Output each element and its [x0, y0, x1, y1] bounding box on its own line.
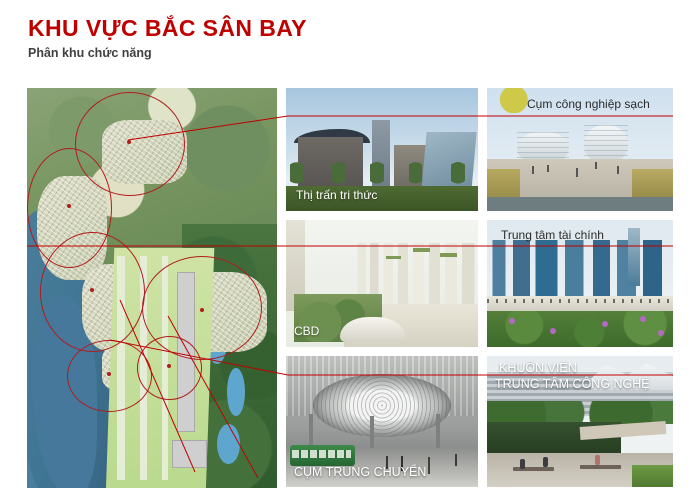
map-dot-cong-nghiep — [67, 204, 71, 208]
photo-cong-nghiep-sach[interactable]: Cụm công nghiệp sạch — [487, 88, 673, 211]
photo-person — [595, 455, 600, 465]
photo-building-left — [298, 137, 363, 194]
photo-cong-nghe[interactable]: KHUÔN VIÊN TRUNG TÂM CÔNG NGHỆ — [487, 356, 673, 487]
photo-bridge-railing — [487, 299, 673, 303]
photo-label-trung-chuyen: CỤM TRUNG CHUYỂN — [294, 465, 426, 479]
photo-facade-stripes — [584, 125, 629, 164]
photo-person — [547, 165, 549, 172]
map-dot-cong-nghe — [167, 364, 171, 368]
photo-person — [455, 454, 457, 466]
photo-person — [617, 166, 619, 174]
photo-tai-chinh[interactable]: Trung tâm tài chính — [487, 220, 673, 347]
photo-trung-chuyen[interactable]: CỤM TRUNG CHUYỂN — [286, 356, 478, 487]
photo-label-cong-nghiep-sach: Cụm công nghiệp sạch — [527, 98, 650, 112]
slide-root: KHU VỰC BẮC SÂN BAY Phân khu chức năng — [0, 0, 700, 493]
photo-tri-thuc[interactable]: Thị trấn tri thức — [286, 88, 478, 211]
map-zone-cbd[interactable] — [40, 232, 145, 352]
masterplan-map[interactable] — [27, 88, 277, 488]
photo-person — [532, 166, 534, 174]
photo-label-cbd: CBD — [294, 325, 319, 339]
photo-tree — [409, 162, 422, 189]
photo-roof-garden — [386, 256, 401, 260]
photo-label-cong-nghe-line2: TRUNG TÂM CÔNG NGHỆ — [495, 377, 650, 391]
photo-roof-garden — [413, 248, 430, 252]
photo-tree — [332, 162, 345, 189]
photo-oculus-dome — [313, 374, 451, 437]
photo-curved-building-b — [584, 125, 629, 164]
photo-label-tri-thuc: Thị trấn tri thức — [296, 189, 377, 203]
photo-glass-building — [422, 132, 477, 191]
photo-tree — [370, 162, 383, 189]
photo-cbd[interactable]: CBD — [286, 220, 478, 347]
photo-person — [428, 457, 430, 474]
photo-person — [595, 162, 597, 169]
photo-tree — [451, 162, 464, 189]
photo-lotus-flower — [602, 321, 608, 327]
photo-roof-garden — [440, 253, 457, 257]
photo-water-strip — [487, 197, 673, 211]
photo-bench — [513, 467, 554, 471]
map-creek-3 — [217, 424, 240, 464]
page-title: KHU VỰC BẮC SÂN BAY — [28, 16, 307, 41]
photo-lawn — [632, 465, 673, 487]
photo-person — [543, 457, 548, 467]
map-dot-tai-chinh — [200, 308, 204, 312]
photo-tram-windows — [292, 450, 352, 458]
map-apron — [172, 440, 207, 468]
photo-person — [520, 459, 525, 469]
map-dot-trung-chuyen — [107, 372, 111, 376]
photo-label-cong-nghe-line1: KHUÔN VIÊN — [499, 361, 577, 375]
photo-oculus-mesh — [313, 374, 451, 437]
photo-lotus-flower — [658, 330, 664, 336]
photo-bench — [580, 465, 621, 469]
header: KHU VỰC BẮC SÂN BAY Phân khu chức năng — [28, 16, 307, 61]
photo-landmark-tower — [628, 228, 639, 286]
photo-lotus-flower — [640, 316, 646, 322]
photo-person — [576, 168, 578, 177]
photo-label-tai-chinh: Trung tâm tài chính — [501, 229, 604, 243]
map-creek-2 — [227, 368, 245, 416]
page-subtitle: Phân khu chức năng — [28, 47, 307, 61]
map-dot-cbd — [90, 288, 94, 292]
photo-tree — [290, 162, 303, 189]
map-dot-tri-thuc — [127, 140, 131, 144]
map-zone-cong-nghe[interactable] — [137, 336, 202, 400]
